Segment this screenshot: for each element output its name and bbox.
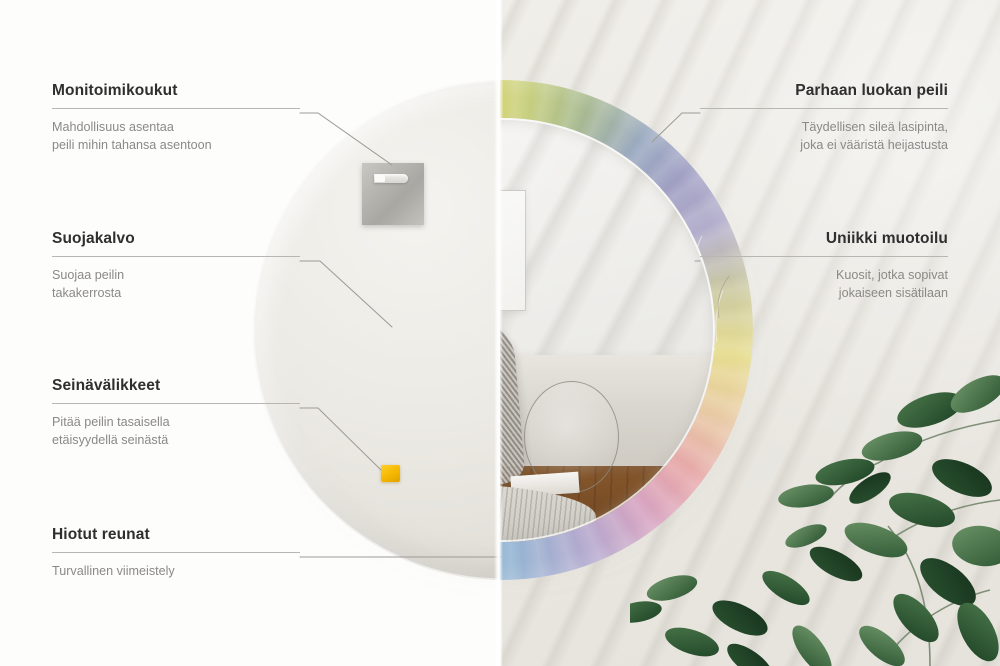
- callout-hiotut-reunat: Hiotut reunat Turvallinen viimeistely: [52, 526, 300, 580]
- callout-description: Kuosit, jotka sopivat jokaiseen sisätila…: [700, 266, 948, 303]
- callout-description: Täydellisen sileä lasipinta, joka ei vää…: [700, 118, 948, 155]
- callout-monitoimikoukut: Monitoimikoukut Mahdollisuus asentaa pei…: [52, 82, 300, 154]
- callout-rule: [52, 552, 300, 553]
- callout-title: Seinävälikkeet: [52, 377, 300, 396]
- bracket-keyhole-slot: [374, 174, 408, 183]
- callout-description: Suojaa peilin takakerrosta: [52, 266, 300, 303]
- infographic-canvas: Monitoimikoukut Mahdollisuus asentaa pei…: [0, 0, 1000, 666]
- callout-description: Turvallinen viimeistely: [52, 562, 300, 580]
- callout-description: Pitää peilin tasaisella etäisyydellä sei…: [52, 413, 300, 450]
- callout-title: Parhaan luokan peili: [700, 82, 948, 101]
- callout-suojakalvo: Suojakalvo Suojaa peilin takakerrosta: [52, 230, 300, 302]
- callout-title: Uniikki muotoilu: [700, 230, 948, 249]
- split-view-strip: [494, 0, 503, 666]
- callout-parhaan-luokan-peili: Parhaan luokan peili Täydellisen sileä l…: [700, 82, 948, 154]
- callout-seinavalikkeet: Seinävälikkeet Pitää peilin tasaisella e…: [52, 377, 300, 449]
- wall-bracket-hardware: [362, 163, 424, 225]
- callout-rule: [52, 108, 300, 109]
- foliage-decoration: [630, 350, 1000, 666]
- wall-spacer-hardware: [381, 465, 400, 482]
- foliage-leaves: [630, 368, 1000, 666]
- callout-rule: [700, 256, 948, 257]
- callout-uniikki-muotoilu: Uniikki muotoilu Kuosit, jotka sopivat j…: [700, 230, 948, 302]
- callout-description: Mahdollisuus asentaa peili mihin tahansa…: [52, 118, 300, 155]
- callout-title: Suojakalvo: [52, 230, 300, 249]
- callout-rule: [52, 256, 300, 257]
- callout-title: Monitoimikoukut: [52, 82, 300, 101]
- callout-title: Hiotut reunat: [52, 526, 300, 545]
- callout-rule: [700, 108, 948, 109]
- callout-rule: [52, 403, 300, 404]
